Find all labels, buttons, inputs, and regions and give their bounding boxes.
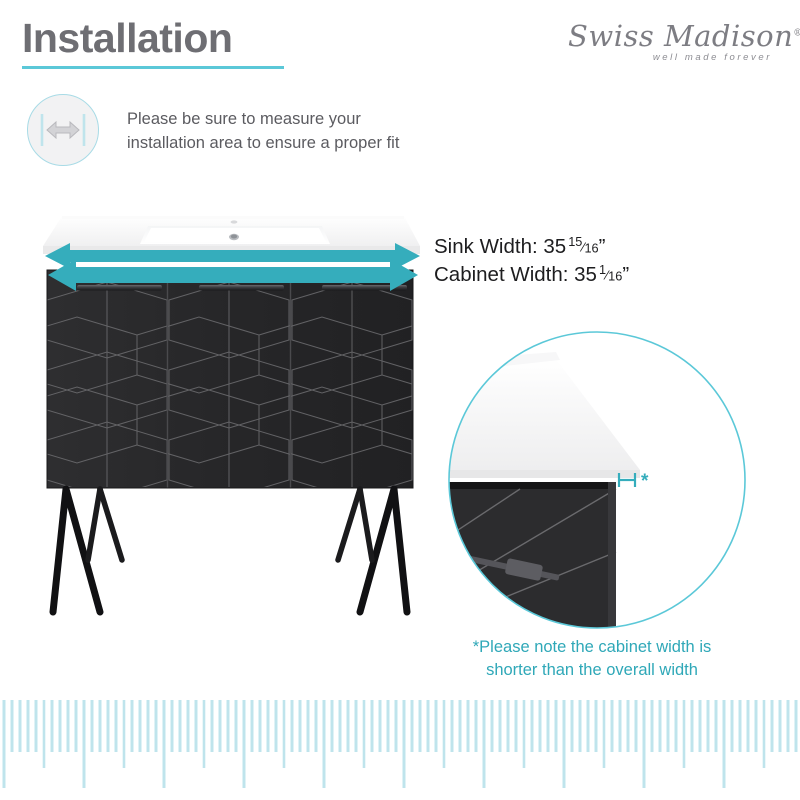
footnote: *Please note the cabinet width is shorte…: [432, 636, 752, 682]
offset-asterisk: *: [641, 471, 649, 492]
footnote-line2: shorter than the overall width: [432, 659, 752, 682]
detail-content: [449, 332, 745, 628]
ruler-decoration: [0, 690, 800, 800]
installation-guide-page: Installation Swiss Madison® well made fo…: [0, 0, 800, 800]
footnote-line1: *Please note the cabinet width is: [432, 636, 752, 659]
